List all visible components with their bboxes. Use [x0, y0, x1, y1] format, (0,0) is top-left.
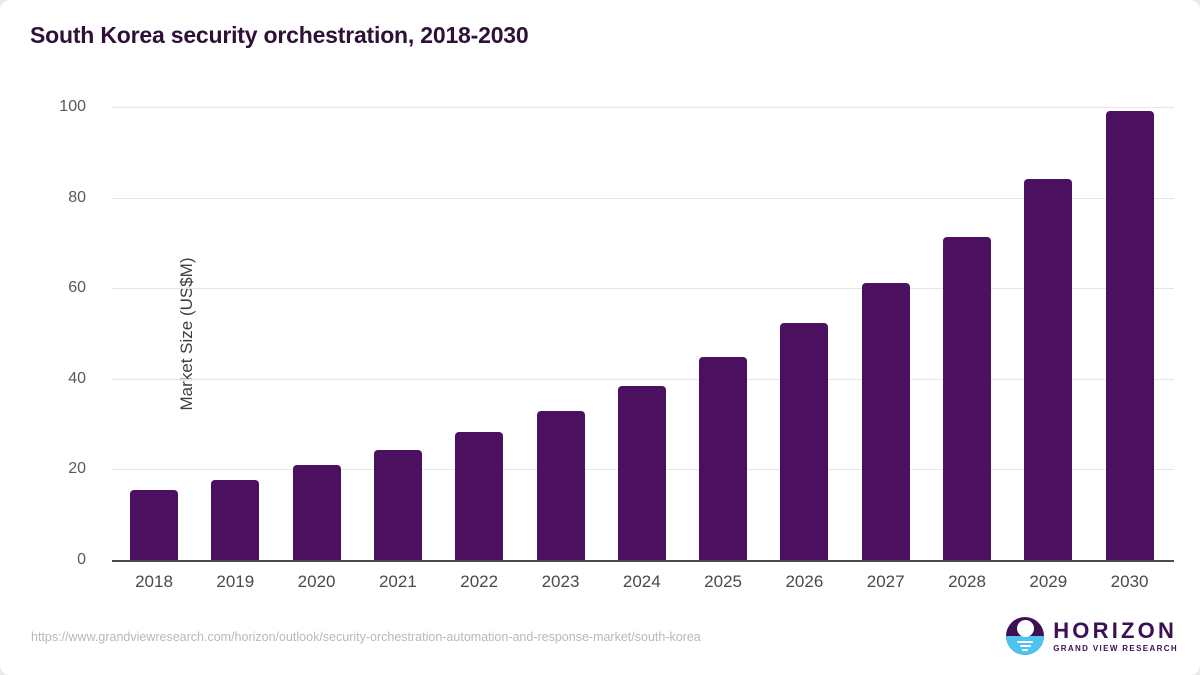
source-url[interactable]: https://www.grandviewresearch.com/horizo… [31, 630, 701, 644]
gridline [112, 288, 1174, 289]
gridline [112, 379, 1174, 380]
y-axis-tick-label: 80 [6, 189, 86, 207]
x-axis-tick-label: 2019 [190, 572, 280, 592]
logo-ray-2 [1020, 645, 1031, 647]
logo-wordmark: HORIZON [1053, 620, 1178, 642]
x-axis-tick-label: 2025 [678, 572, 768, 592]
bar[interactable] [1024, 179, 1072, 560]
y-axis-tick-label: 40 [6, 370, 86, 388]
chart-title: South Korea security orchestration, 2018… [30, 22, 528, 49]
bar[interactable] [699, 357, 747, 560]
x-axis-tick-label: 2027 [841, 572, 931, 592]
x-axis-tick-label: 2018 [109, 572, 199, 592]
x-axis-tick-label: 2020 [272, 572, 362, 592]
bar[interactable] [374, 450, 422, 560]
bar[interactable] [537, 411, 585, 560]
bar[interactable] [862, 283, 910, 560]
horizon-logo[interactable]: HORIZON GRAND VIEW RESEARCH [1006, 617, 1178, 655]
bar[interactable] [1106, 111, 1154, 560]
logo-sun [1017, 620, 1034, 637]
x-axis-tick-label: 2029 [1003, 572, 1093, 592]
logo-ray-1 [1017, 641, 1033, 643]
y-axis-tick-label: 0 [6, 551, 86, 569]
y-axis-tick-label: 20 [6, 460, 86, 478]
x-axis-tick-label: 2023 [516, 572, 606, 592]
horizon-logo-icon [1006, 617, 1044, 655]
bar[interactable] [455, 432, 503, 560]
gridline [112, 107, 1174, 108]
x-axis-tick-label: 2024 [597, 572, 687, 592]
y-axis-label: Market Size (US$M) [177, 174, 197, 494]
x-axis-tick-label: 2030 [1085, 572, 1175, 592]
x-axis-tick-label: 2022 [434, 572, 524, 592]
bar[interactable] [618, 386, 666, 560]
logo-text: HORIZON GRAND VIEW RESEARCH [1053, 620, 1178, 653]
bar[interactable] [130, 490, 178, 560]
bar[interactable] [780, 323, 828, 560]
x-axis-tick-label: 2028 [922, 572, 1012, 592]
x-axis-tick-label: 2021 [353, 572, 443, 592]
x-axis-tick-label: 2026 [759, 572, 849, 592]
logo-tagline: GRAND VIEW RESEARCH [1053, 645, 1178, 653]
y-axis-tick-label: 60 [6, 279, 86, 297]
bar[interactable] [943, 237, 991, 560]
bar[interactable] [293, 465, 341, 560]
gridline [112, 198, 1174, 199]
logo-ray-3 [1022, 649, 1028, 651]
chart-card: South Korea security orchestration, 2018… [0, 0, 1200, 675]
x-axis-line [112, 560, 1174, 562]
y-axis-tick-label: 100 [6, 98, 86, 116]
bar[interactable] [211, 480, 259, 560]
plot-area: Market Size (US$M) 020406080100 [112, 107, 1174, 560]
